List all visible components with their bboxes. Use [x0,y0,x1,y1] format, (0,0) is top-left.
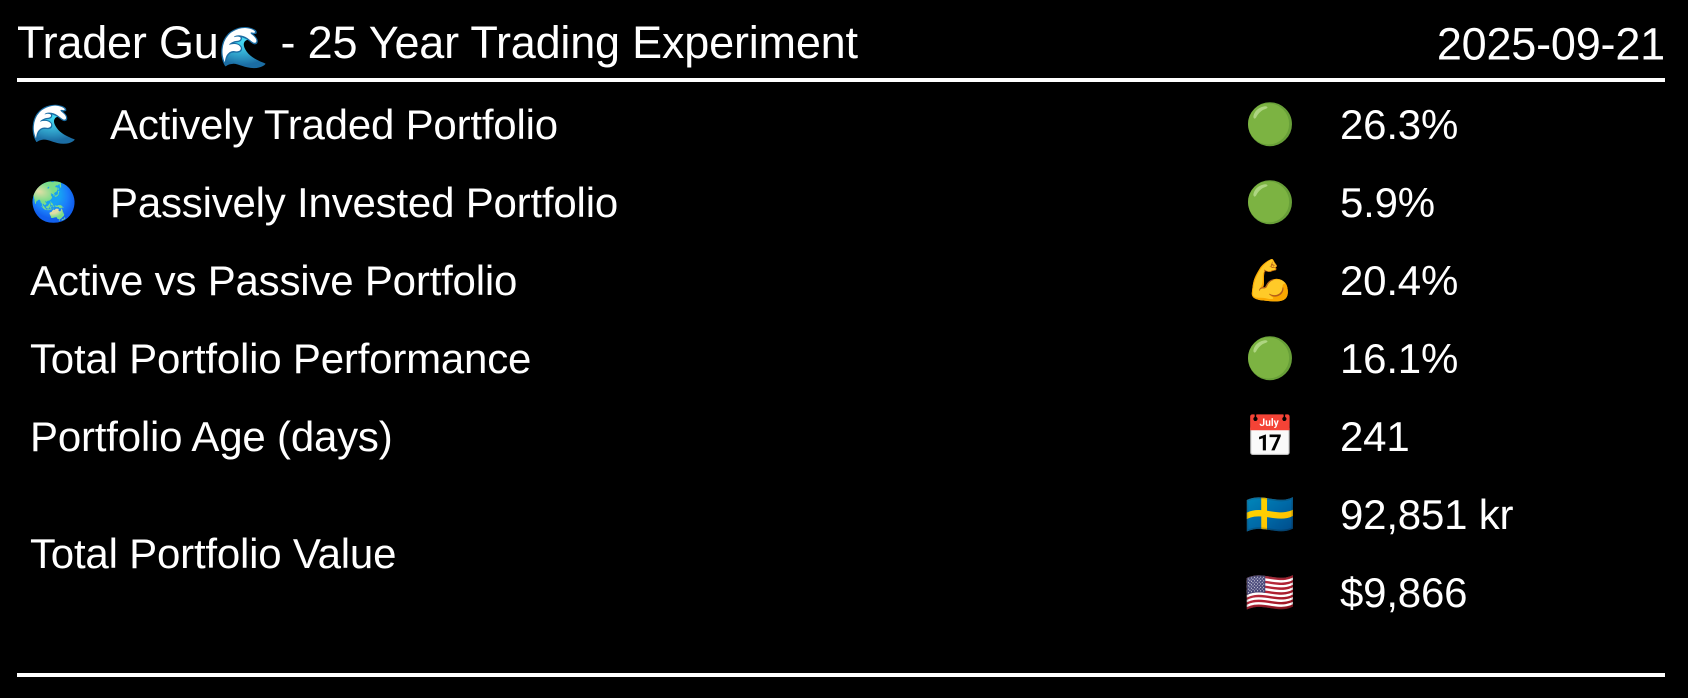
metric-value: 20.4% [1340,260,1458,302]
metric-values: 🟢26.3% [1245,86,1458,164]
metric-label: Portfolio Age (days) [30,416,393,458]
metric-values: 💪20.4% [1245,242,1458,320]
page-title-suffix: - 25 Year Trading Experiment [281,17,858,68]
calendar-icon: 📅 [1245,417,1340,457]
metric-label: Actively Traded Portfolio [110,104,558,146]
header: Trader Gu🌊 - 25 Year Trading Experiment … [17,8,1665,80]
flag-sweden-icon: 🇸🇪 [1245,495,1340,535]
metric-label: Total Portfolio Value [30,533,396,575]
metric-values: 📅241 [1245,398,1409,476]
report-date: 2025-09-21 [1437,22,1665,67]
wave-icon: 🌊 [219,26,269,70]
metric-values: 🟢5.9% [1245,164,1435,242]
metric-values: 🟢16.1% [1245,320,1458,398]
metric-row: 🌊Actively Traded Portfolio🟢26.3% [0,86,1688,164]
green-circle-icon: 🟢 [1245,183,1340,223]
metric-label-group: Total Portfolio Performance [30,338,531,380]
page-title: Trader Gu🌊 - 25 Year Trading Experiment [17,20,858,68]
portfolio-summary-card: Trader Gu🌊 - 25 Year Trading Experiment … [0,0,1688,698]
metric-label-group: Portfolio Age (days) [30,416,393,458]
green-circle-icon: 🟢 [1245,105,1340,145]
metric-value: 26.3% [1340,104,1458,146]
metric-value: $9,866 [1340,572,1467,614]
metric-row: Total Portfolio Value🇸🇪92,851 kr🇺🇸$9,866 [0,476,1688,632]
metric-label-group: Active vs Passive Portfolio [30,260,517,302]
metric-value-line: 🟢5.9% [1245,164,1435,242]
metrics-list: 🌊Actively Traded Portfolio🟢26.3%🌏Passive… [0,86,1688,632]
metric-label: Active vs Passive Portfolio [30,260,517,302]
metric-value-line: 🟢16.1% [1245,320,1458,398]
metric-label: Total Portfolio Performance [30,338,531,380]
metric-row: Total Portfolio Performance🟢16.1% [0,320,1688,398]
metric-value-line: 🇺🇸$9,866 [1245,554,1513,632]
divider-top [17,78,1665,82]
metric-values: 🇸🇪92,851 kr🇺🇸$9,866 [1245,476,1513,632]
metric-row: 🌏Passively Invested Portfolio🟢5.9% [0,164,1688,242]
metric-value-line: 🇸🇪92,851 kr [1245,476,1513,554]
metric-value-line: 📅241 [1245,398,1409,476]
flag-usa-icon: 🇺🇸 [1245,573,1340,613]
metric-label-group: 🌏Passively Invested Portfolio [30,182,618,224]
globe-asia-icon: 🌏 [30,184,78,222]
metric-label-group: 🌊Actively Traded Portfolio [30,104,558,146]
green-circle-icon: 🟢 [1245,339,1340,379]
metric-value: 92,851 kr [1340,494,1513,536]
metric-value: 5.9% [1340,182,1435,224]
metric-row: Active vs Passive Portfolio💪20.4% [0,242,1688,320]
metric-value-line: 💪20.4% [1245,242,1458,320]
metric-row: Portfolio Age (days)📅241 [0,398,1688,476]
flexed-biceps-icon: 💪 [1245,261,1340,301]
wave-icon: 🌊 [30,106,78,144]
metric-label: Passively Invested Portfolio [110,182,618,224]
metric-value-line: 🟢26.3% [1245,86,1458,164]
divider-bottom [17,673,1665,677]
metric-value: 16.1% [1340,338,1458,380]
page-title-text: Trader Gu [17,17,219,68]
metric-label-group: Total Portfolio Value [30,533,396,575]
metric-value: 241 [1340,416,1409,458]
